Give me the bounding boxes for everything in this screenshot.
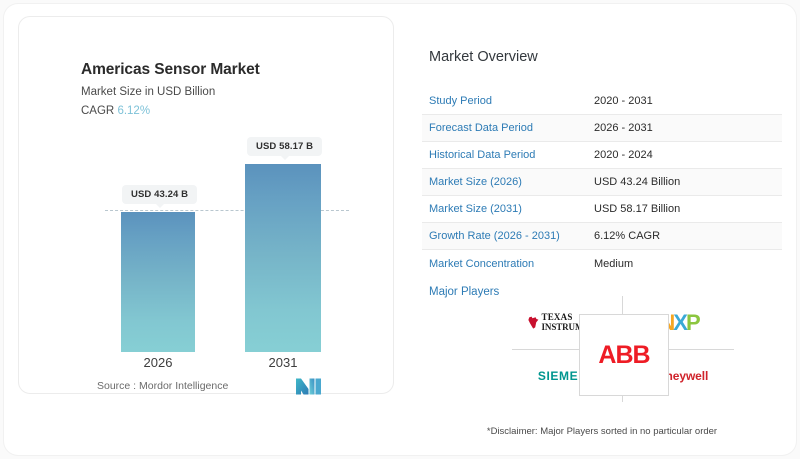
chart-subtitle: Market Size in USD Billion <box>81 86 215 98</box>
x-axis-tick-2031: 2031 <box>245 355 321 370</box>
chart-title: Americas Sensor Market <box>81 61 260 79</box>
table-row-value: 2020 - 2024 <box>594 149 782 161</box>
table-row-value: 2020 - 2031 <box>594 95 782 107</box>
cagr-value: 6.12% <box>117 105 150 117</box>
bar-value-label-2031: USD 58.17 B <box>247 137 322 156</box>
table-row-value: 2026 - 2031 <box>594 122 782 134</box>
major-players-label: Major Players <box>429 286 499 298</box>
table-row: Forecast Data Period 2026 - 2031 <box>422 115 782 142</box>
bar-value-label-2026: USD 43.24 B <box>122 185 197 204</box>
table-row: Growth Rate (2026 - 2031) 6.12% CAGR <box>422 223 782 250</box>
abb-wordmark: ABB <box>598 341 649 370</box>
chart-card: Americas Sensor Market Market Size in US… <box>18 16 394 394</box>
page-root: Americas Sensor Market Market Size in US… <box>0 0 800 459</box>
x-axis-tick-2026: 2026 <box>121 355 195 370</box>
bar-chart-plot: USD 43.24 B USD 58.17 B <box>33 127 395 352</box>
bar-2031[interactable] <box>245 164 321 352</box>
player-logo-abb: ABB <box>579 314 669 396</box>
table-row-key: Market Concentration <box>422 258 594 270</box>
source-text: Source : Mordor Intelligence <box>97 380 228 392</box>
table-row-key: Study Period <box>422 95 594 107</box>
table-row: Historical Data Period 2020 - 2024 <box>422 142 782 169</box>
market-overview-title: Market Overview <box>429 49 538 65</box>
table-row: Market Size (2031) USD 58.17 Billion <box>422 196 782 223</box>
page-sheet: Americas Sensor Market Market Size in US… <box>4 4 796 455</box>
table-row-key: Growth Rate (2026 - 2031) <box>422 230 594 242</box>
table-row: Market Size (2026) USD 43.24 Billion <box>422 169 782 196</box>
mordor-intelligence-logo <box>295 378 323 395</box>
table-row-value: USD 58.17 Billion <box>594 203 782 215</box>
major-players-logo-grid: TEXAS INSTRUMENTS NXP SIEMENS Honeywell … <box>512 296 734 402</box>
table-row-value: Medium <box>594 258 782 270</box>
table-row-value: 6.12% CAGR <box>594 230 782 242</box>
table-row-key: Market Size (2031) <box>422 203 594 215</box>
table-row-key: Market Size (2026) <box>422 176 594 188</box>
cagr-label: CAGR <box>81 105 114 117</box>
table-row: Market Concentration Medium <box>422 250 782 277</box>
texas-shape-icon <box>528 316 539 329</box>
table-row: Study Period 2020 - 2031 <box>422 88 782 115</box>
market-overview-table: Study Period 2020 - 2031 Forecast Data P… <box>422 88 782 277</box>
bar-2026[interactable] <box>121 212 195 352</box>
table-row-key: Forecast Data Period <box>422 122 594 134</box>
chart-cagr: CAGR 6.12% <box>81 105 150 117</box>
table-row-value: USD 43.24 Billion <box>594 176 782 188</box>
table-row-key: Historical Data Period <box>422 149 594 161</box>
disclaimer-text: *Disclaimer: Major Players sorted in no … <box>422 426 782 437</box>
